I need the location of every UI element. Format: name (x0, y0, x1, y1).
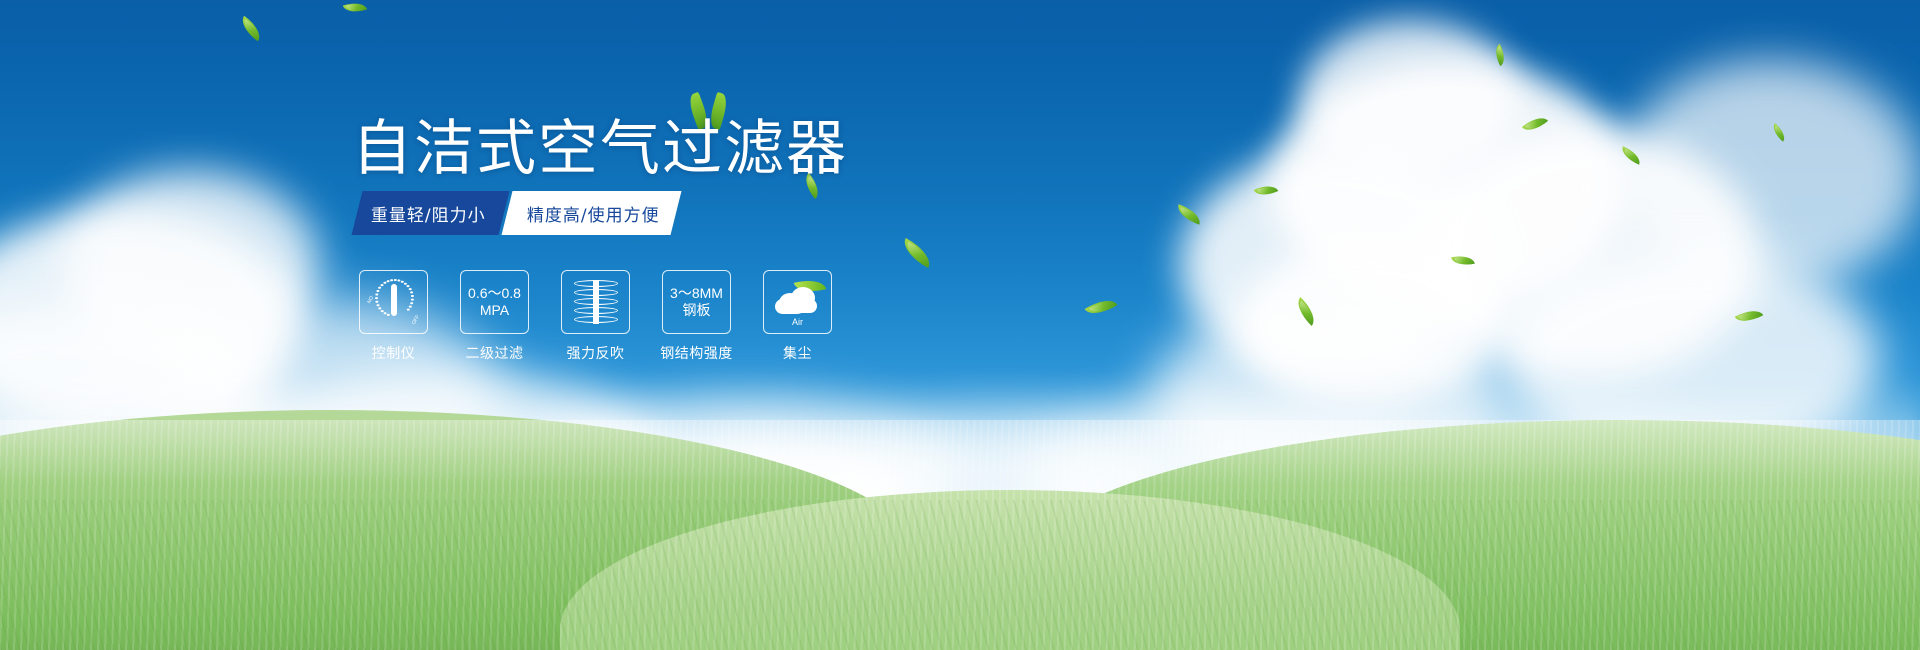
gauge-tick (387, 280, 390, 283)
gauge-tick (410, 302, 413, 305)
ribbon-segment-white: 精度高/使用方便 (501, 191, 681, 235)
feature-box-subtext: 钢板 (670, 302, 723, 319)
feature-icon-box: Air (763, 270, 832, 334)
gauge-tick (376, 293, 379, 296)
gauge-tick (411, 295, 414, 298)
gauge-tick (381, 284, 384, 287)
feature-item-controller[interactable]: NO OFF 控制仪 (358, 270, 429, 363)
feature-icon-box: 3～8MM 钢板 (662, 270, 731, 334)
feature-icon-box: 0.6～0.8 MPA (460, 270, 529, 334)
gauge-tick (384, 312, 387, 315)
gauge-tick (377, 290, 380, 293)
air-label: Air (773, 317, 823, 327)
product-banner: 自洁式空气过滤器 重量轻/阻力小 精度高/使用方便 NO OFF (0, 0, 1920, 650)
feature-label: 二级过滤 (466, 343, 524, 363)
feature-box-subtext: MPA (468, 302, 521, 319)
cloud-air-icon: Air (773, 279, 823, 325)
gauge-tick (411, 298, 414, 301)
feature-icon-box (561, 270, 630, 334)
feature-box-text: 3～8MM (670, 285, 723, 302)
steel-plate-text-icon: 3～8MM 钢板 (670, 285, 723, 319)
gauge-tick (376, 300, 379, 303)
feature-item-two-stage-filter[interactable]: 0.6～0.8 MPA 二级过滤 (459, 270, 530, 363)
gauge-label-off: OFF (410, 314, 420, 326)
gauge-tick (409, 288, 412, 291)
page-title: 自洁式空气过滤器 (352, 118, 848, 180)
feature-icon-row: NO OFF 控制仪 0.6～0.8 MPA 二级过滤 (358, 270, 833, 363)
gauge-tick (398, 279, 401, 282)
gauge-tick (390, 279, 393, 282)
gauge-tick (384, 282, 387, 285)
feature-label: 控制仪 (372, 343, 416, 363)
banner-content: 自洁式空气过滤器 重量轻/阻力小 精度高/使用方便 NO OFF (0, 0, 1920, 650)
feature-item-steel-strength[interactable]: 3～8MM 钢板 钢结构强度 (661, 270, 732, 363)
feature-ribbon: 重量轻/阻力小 精度高/使用方便 (350, 191, 675, 235)
gauge-dial-icon: NO OFF (368, 277, 420, 327)
coil-filter-icon (574, 278, 618, 326)
gauge-tick (387, 314, 390, 317)
ribbon-segment-navy: 重量轻/阻力小 (352, 191, 510, 235)
gauge-tick (407, 308, 410, 311)
gauge-tick (378, 287, 381, 290)
pressure-text-icon: 0.6～0.8 MPA (468, 285, 521, 319)
feature-label: 集尘 (783, 343, 812, 363)
gauge-tick (394, 279, 397, 282)
feature-label: 强力反吹 (567, 343, 625, 363)
feature-box-text: 0.6～0.8 (468, 285, 521, 302)
feature-item-dust-collection[interactable]: Air 集尘 (762, 270, 833, 363)
gauge-tick (410, 291, 413, 294)
feature-label: 钢结构强度 (660, 343, 733, 363)
gauge-tick (379, 307, 382, 310)
ribbon-text-1: 重量轻/阻力小 (371, 201, 486, 226)
gauge-label-no: NO (366, 295, 375, 304)
gauge-tick (381, 310, 384, 313)
feature-icon-box: NO OFF (359, 270, 428, 334)
feature-item-strong-blowback[interactable]: 强力反吹 (560, 270, 631, 363)
gauge-tick (377, 304, 380, 307)
ribbon-text-2: 精度高/使用方便 (527, 201, 660, 226)
